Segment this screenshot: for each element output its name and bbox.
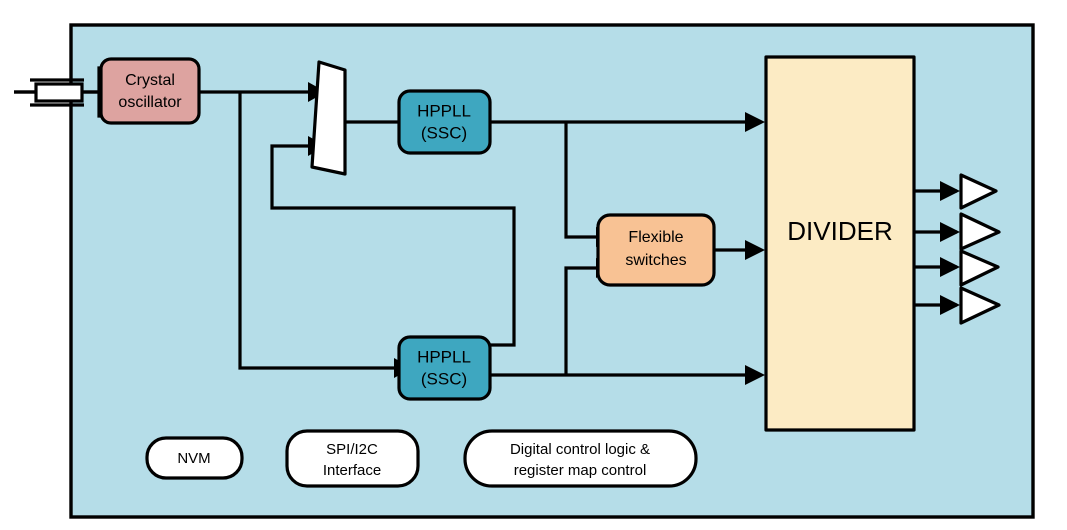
hppll-bottom-box[interactable] [399,337,490,399]
block-divider[interactable]: DIVIDER [766,57,914,430]
crystal-oscillator-label-line1: Crystal [125,72,175,89]
spi-i2c-label-line2: Interface [323,462,381,479]
block-diagram-svg: Crystal oscillator HPPLL (SSC) HPPLL (SS… [0,0,1067,530]
hppll-top-label-line1: HPPLL [417,101,471,120]
hppll-top-label-line2: (SSC) [421,123,467,142]
hppll-top-box[interactable] [399,91,490,153]
block-hppll-top[interactable]: HPPLL (SSC) [399,91,490,153]
block-nvm[interactable]: NVM [147,438,242,478]
crystal-oscillator-label-line2: oscillator [118,94,182,111]
divider-label: DIVIDER [787,216,892,246]
digital-control-label-line1: Digital control logic & [510,441,650,458]
block-spi-i2c-interface[interactable]: SPI/I2C Interface [287,431,418,486]
diagram-canvas: Crystal oscillator HPPLL (SSC) HPPLL (SS… [0,0,1067,530]
nvm-label: NVM [177,450,210,467]
block-hppll-bottom[interactable]: HPPLL (SSC) [399,337,490,399]
crystal-oscillator-box[interactable] [101,59,199,123]
spi-i2c-label-line1: SPI/I2C [326,441,378,458]
block-crystal-oscillator[interactable]: Crystal oscillator [101,59,199,123]
flexible-switches-label-line1: Flexible [628,229,683,246]
flexible-switches-label-line2: switches [625,252,686,269]
hppll-bottom-label-line1: HPPLL [417,347,471,366]
crystal-body [36,84,82,101]
flexible-switches-box[interactable] [598,215,714,285]
digital-control-label-line2: register map control [514,462,647,479]
mux-trapezoid[interactable] [312,62,345,174]
hppll-bottom-label-line2: (SSC) [421,369,467,388]
block-flexible-switches[interactable]: Flexible switches [598,215,714,285]
block-mux[interactable] [312,62,345,174]
block-digital-control-logic[interactable]: Digital control logic & register map con… [465,431,696,486]
